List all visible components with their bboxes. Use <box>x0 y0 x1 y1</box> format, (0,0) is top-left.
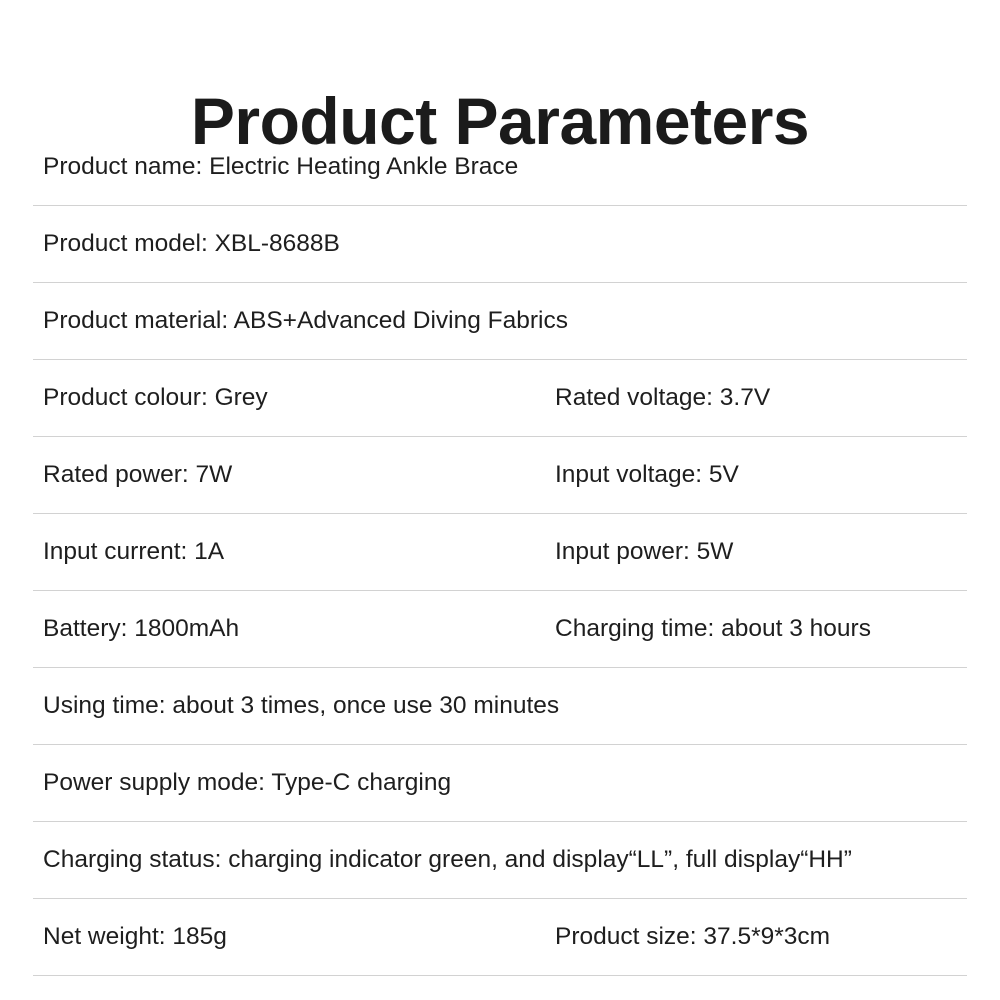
spec-label-primary: Product colour: Grey <box>43 383 268 413</box>
spec-label-secondary: Input voltage: 5V <box>555 460 739 490</box>
spec-label-primary: Product material: ABS+Advanced Diving Fa… <box>43 306 957 336</box>
table-row: Using time: about 3 times, once use 30 m… <box>33 668 967 745</box>
spec-label-primary: Product model: XBL-8688B <box>43 229 957 259</box>
spec-label-secondary: Rated voltage: 3.7V <box>555 383 770 413</box>
table-row: Charging status: charging indicator gree… <box>33 822 967 899</box>
table-row: Rated power: 7WInput voltage: 5V <box>33 437 967 514</box>
spec-label-secondary: Input power: 5W <box>555 537 733 567</box>
table-row: Product material: ABS+Advanced Diving Fa… <box>33 283 967 360</box>
product-parameters-sheet: Product Parameters Product name: Electri… <box>0 0 1000 1000</box>
spec-label-primary: Power supply mode: Type-C charging <box>43 768 957 798</box>
spec-label-primary: Battery: 1800mAh <box>43 614 239 644</box>
spec-label-primary: Rated power: 7W <box>43 460 232 490</box>
spec-label-primary: Net weight: 185g <box>43 922 227 952</box>
table-row: Product model: XBL-8688B <box>33 206 967 283</box>
table-row: Power supply mode: Type-C charging <box>33 745 967 822</box>
table-row: Product colour: GreyRated voltage: 3.7V <box>33 360 967 437</box>
spec-label-primary: Charging status: charging indicator gree… <box>43 845 957 875</box>
spec-label-secondary: Product size: 37.5*9*3cm <box>555 922 830 952</box>
spec-label-primary: Product name: Electric Heating Ankle Bra… <box>43 152 957 182</box>
table-row: Battery: 1800mAhCharging time: about 3 h… <box>33 591 967 668</box>
spec-label-secondary: Charging time: about 3 hours <box>555 614 871 644</box>
table-row: Net weight: 185gProduct size: 37.5*9*3cm <box>33 899 967 976</box>
table-row: Product name: Electric Heating Ankle Bra… <box>33 129 967 206</box>
spec-table: Product name: Electric Heating Ankle Bra… <box>33 129 967 976</box>
spec-label-primary: Input current: 1A <box>43 537 224 567</box>
spec-label-primary: Using time: about 3 times, once use 30 m… <box>43 691 957 721</box>
table-row: Input current: 1AInput power: 5W <box>33 514 967 591</box>
